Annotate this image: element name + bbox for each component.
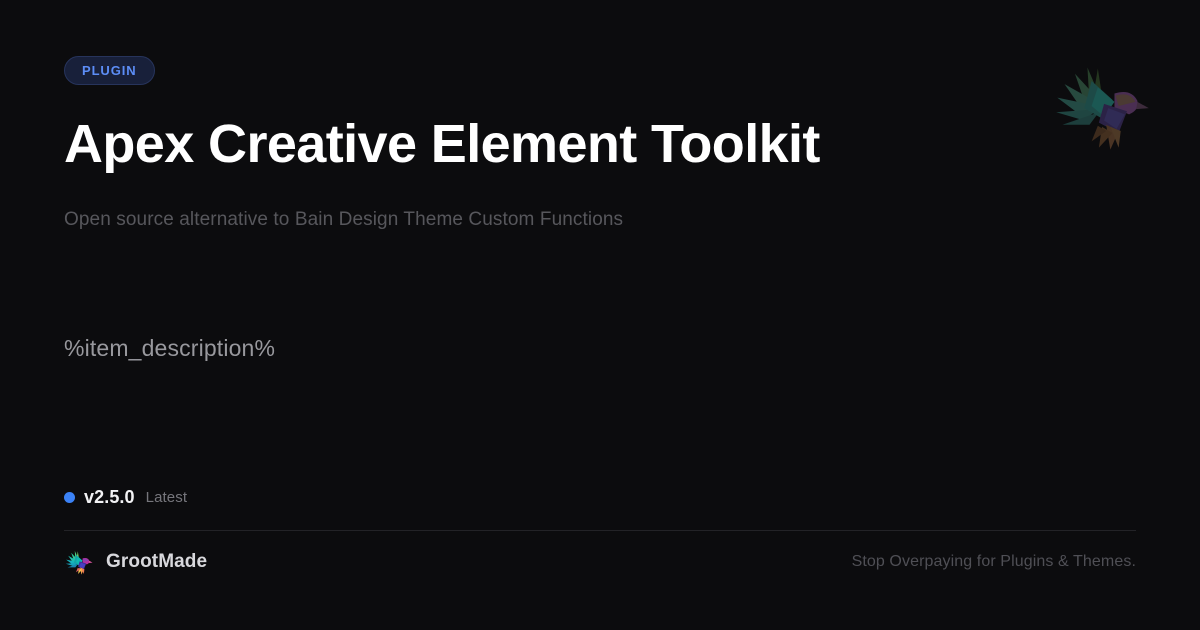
footer-tagline: Stop Overpaying for Plugins & Themes. (852, 553, 1136, 571)
brand-name: GrootMade (106, 551, 207, 573)
page-subtitle: Open source alternative to Bain Design T… (64, 208, 1136, 233)
item-description: %item_description% (64, 334, 1136, 364)
page-title: Apex Creative Element Toolkit (64, 116, 1136, 173)
status-dot-icon (64, 492, 75, 503)
version-row: v2.5.0 Latest (64, 487, 187, 508)
footer-divider (64, 530, 1136, 531)
social-preview-card: PLUGIN Apex Creative Element Toolkit Ope… (0, 0, 1200, 630)
hummingbird-logo-icon (64, 547, 94, 577)
brand: GrootMade (64, 547, 207, 577)
footer: GrootMade Stop Overpaying for Plugins & … (64, 542, 1136, 582)
category-badge: PLUGIN (64, 56, 155, 85)
version-latest-badge: Latest (146, 489, 187, 506)
version-number: v2.5.0 (84, 487, 135, 508)
